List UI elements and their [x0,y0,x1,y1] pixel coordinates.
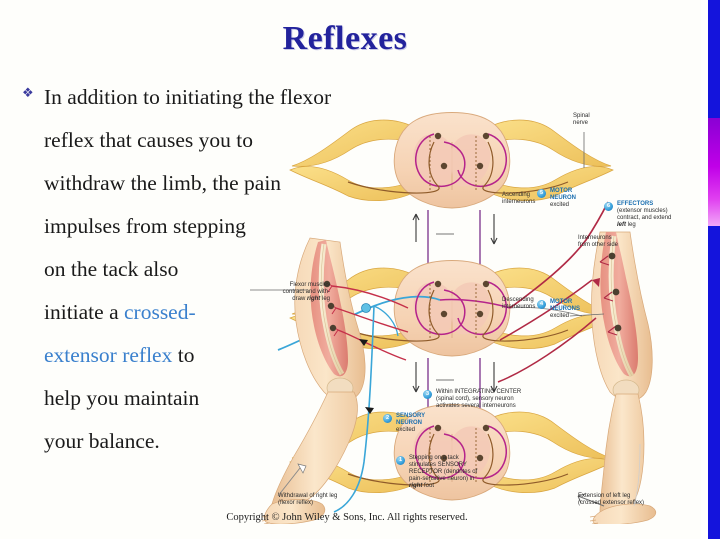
caption-right-leg: Extension of left leg (crossed extensor … [578,493,694,507]
step-marker-5: 5 [537,189,546,198]
diamond-bullet-icon: ❖ [22,76,44,99]
step-5-label: MOTOR NEURON excited [550,188,602,209]
step-marker-1: 1 [396,456,405,465]
step-marker-6: 6 [604,202,613,211]
page-title: Reflexes [0,20,690,58]
bullet-line-text: withdraw the limb, the pain [44,171,281,195]
bullet-line-text: your balance. [44,429,160,453]
right-edge-stripe [708,0,720,539]
step-1-label: Stepping on a tack stimulates SENSORY RE… [409,455,505,490]
right-edge-accent-stripe [708,118,720,226]
step-6-label: EFFECTORS (extensor muscles) contract, a… [617,201,703,229]
step-2-label: SENSORY NEURON excited [396,413,444,434]
bullet-line-text: help you maintain [44,386,199,410]
label-flexor-muscles: Flexor muscles contract and with- draw r… [252,282,330,303]
presentation-slide: Reflexes ❖ In addition to initiating the… [0,0,720,539]
reflex-arc-diagram: Spinal nerve Ascending interneurons Desc… [248,92,700,524]
bullet-line-text: impulses from stepping [44,214,246,238]
label-spinal-nerve: Spinal nerve [573,113,613,127]
spinal-cord-connector-upper [413,210,497,268]
copyright-notice: Copyright © John Wiley & Sons, Inc. All … [0,512,694,523]
caption-left-leg: Withdrawal of right leg (flexor reflex) [278,493,388,507]
step-marker-4: 4 [537,300,546,309]
highlighted-term: crossed- [124,300,196,324]
step-4-label: MOTOR NEURONS excited [550,299,606,320]
bullet-line-text: initiate a [44,300,124,324]
bullet-line-text: to [172,343,194,367]
step-marker-3: 3 [423,390,432,399]
bullet-line-text: on the tack also [44,257,178,281]
highlighted-term: extensor reflex [44,343,172,367]
edge-gap [701,0,708,539]
label-interneurons-other-side: Interneurons from other side [578,235,648,249]
step-marker-2: 2 [383,414,392,423]
step-3-label: Within INTEGRATING CENTER (spinal cord),… [436,389,572,410]
bullet-line-text: reflex that causes you to [44,128,253,152]
